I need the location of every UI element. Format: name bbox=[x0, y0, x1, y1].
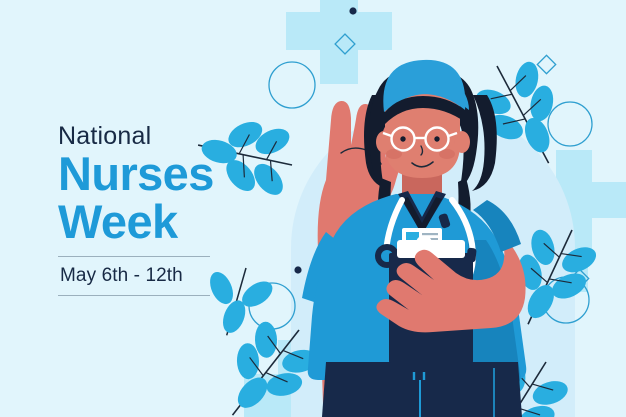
clipboard-clip-top bbox=[416, 236, 432, 248]
headline-block: National Nurses Week May 6th - 12th bbox=[58, 124, 268, 296]
eye-right bbox=[434, 136, 439, 141]
navy-pants bbox=[322, 362, 522, 417]
date-range: May 6th - 12th bbox=[60, 266, 268, 285]
headline-nurses: Nurses bbox=[58, 151, 268, 197]
eye-left bbox=[400, 136, 405, 141]
rule-bottom bbox=[58, 295, 210, 296]
blush-right bbox=[439, 149, 455, 159]
rule-top bbox=[58, 256, 210, 257]
headline-week: Week bbox=[58, 199, 268, 245]
headline-national: National bbox=[58, 124, 268, 149]
nurses-week-poster: National Nurses Week May 6th - 12th bbox=[0, 0, 626, 417]
blush-left bbox=[386, 149, 402, 159]
